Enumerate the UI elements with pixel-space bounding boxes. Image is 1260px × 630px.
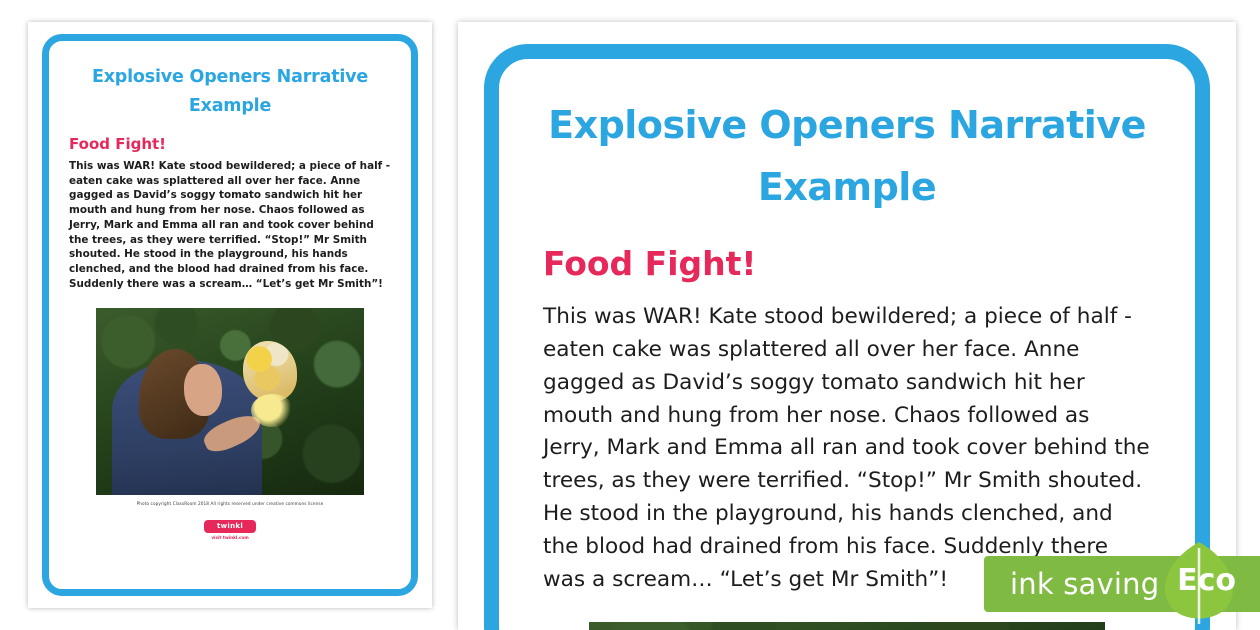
thumbnail-section-heading: Food Fight!	[69, 135, 391, 153]
photo-cake	[243, 341, 297, 401]
thumbnail-page-title: Explosive Openers Narrative Example	[75, 63, 385, 121]
thumbnail-page-border: Explosive Openers Narrative Example Food…	[42, 34, 418, 596]
screenshot-stage: Explosive Openers Narrative Example Food…	[0, 0, 1260, 630]
ink-saving-eco-badge: ink saving Eco	[964, 538, 1260, 630]
thumbnail-photo	[96, 308, 364, 495]
thumbnail-photo-credit: Photo copyright ClassRoom 2018 All right…	[69, 501, 391, 506]
eco-badge-leaf-label: Eco	[1177, 563, 1236, 598]
thumbnail-brand-logo: twinkl visit twinkl.com	[204, 520, 256, 541]
photo-person-face	[184, 364, 222, 416]
brand-logo-name: twinkl	[204, 520, 256, 534]
eco-badge-label: ink saving	[1010, 567, 1159, 601]
page-title: Explosive Openers Narrative Example	[543, 95, 1151, 218]
document-thumbnail-page[interactable]: Explosive Openers Narrative Example Food…	[28, 22, 432, 608]
brand-logo-url: visit twinkl.com	[204, 535, 256, 540]
section-heading: Food Fight!	[543, 244, 1151, 283]
thumbnail-body-text: This was WAR! Kate stood bewildered; a p…	[69, 159, 391, 292]
